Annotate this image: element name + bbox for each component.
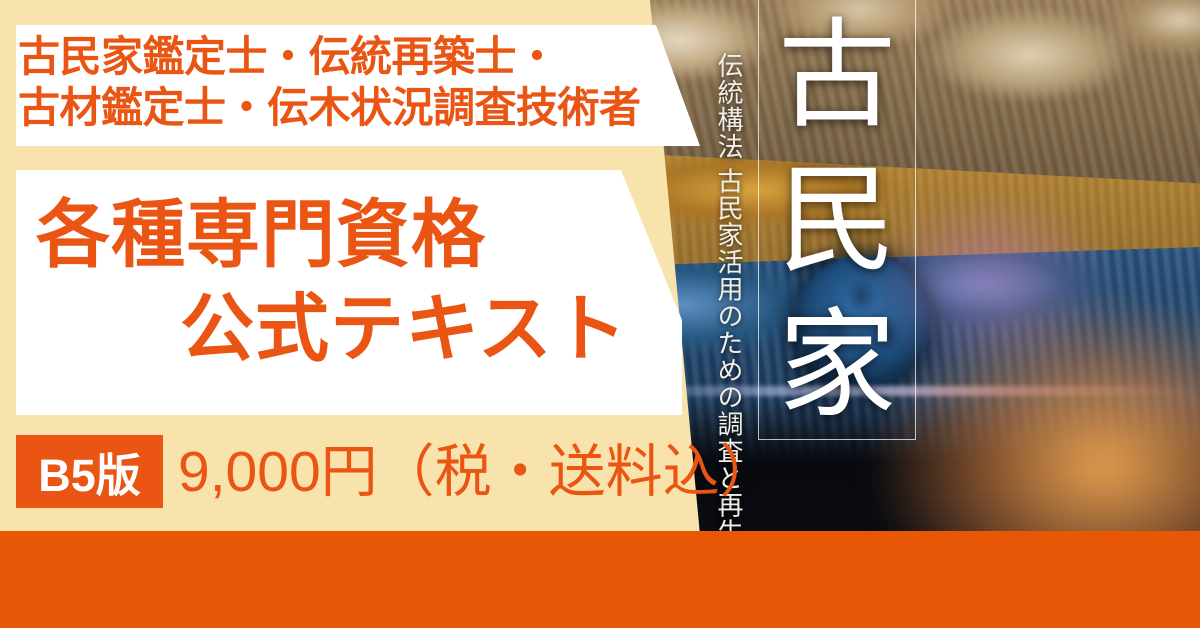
cover-title-char-1: 古	[778, 18, 896, 136]
qualifications-text: 古民家鑑定士・伝統再築士・ 古材鑑定士・伝木状況調査技術者	[18, 31, 718, 133]
headline-line-2: 公式テキスト	[180, 280, 628, 378]
price-text: 9,000円（税・送料込）	[178, 437, 777, 507]
promo-banner: 古 民 家 伝統構法 古民家活用のための調査と再生の 古民家鑑定士・伝統再築士・…	[0, 0, 1200, 628]
cover-title-char-2: 民	[778, 163, 896, 281]
cover-title-vertical: 古 民 家	[760, 4, 914, 440]
headline-line-1: 各種専門資格	[36, 186, 486, 284]
cta-bar[interactable]: 詳細・ご購入はこちら	[0, 531, 1200, 628]
qualifications-line-2: 古材鑑定士・伝木状況調査技術者	[18, 82, 718, 133]
qualifications-line-1: 古民家鑑定士・伝統再築士・	[18, 31, 718, 82]
cover-title-char-3: 家	[778, 308, 896, 426]
headline-text: 各種専門資格 公式テキスト	[16, 170, 682, 415]
format-badge: B5版	[16, 435, 163, 508]
